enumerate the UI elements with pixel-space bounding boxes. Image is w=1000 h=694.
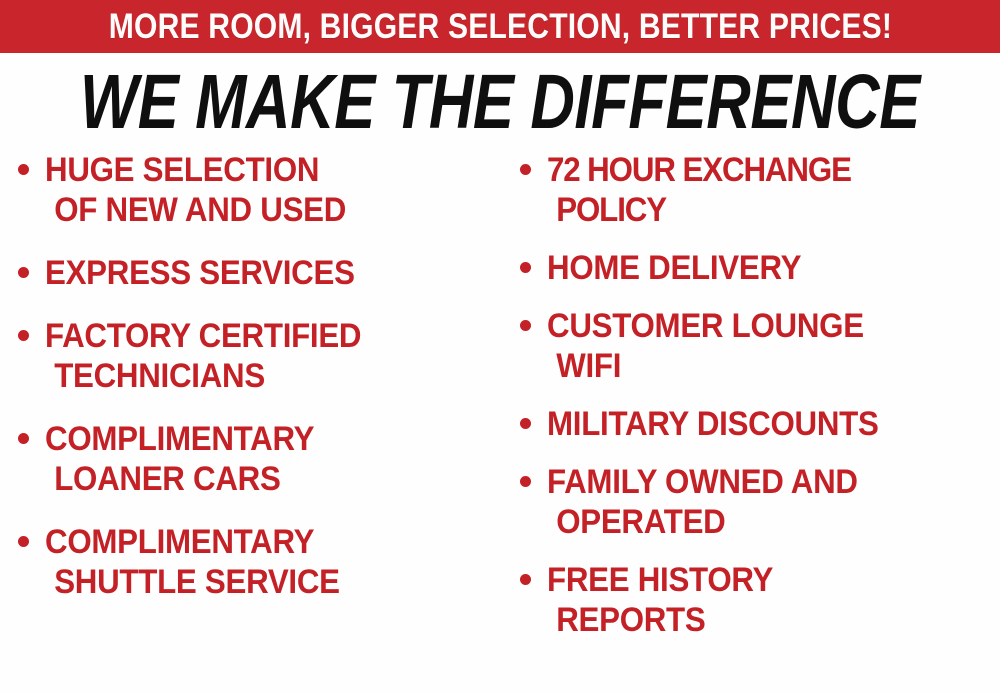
bullet-dot-icon xyxy=(520,418,531,429)
list-item-label: FACTORY CERTIFIED TECHNICIANS xyxy=(45,316,453,396)
benefits-columns: HUGE SELECTION OF NEW AND USED EXPRESS S… xyxy=(0,150,1000,694)
list-item-line1: FREE HISTORY xyxy=(547,561,773,599)
list-item-label: HOME DELIVERY xyxy=(547,248,964,288)
list-item: FREE HISTORY REPORTS xyxy=(520,560,1000,640)
list-item-label: MILITARY DISCOUNTS xyxy=(547,404,964,444)
list-item-line1: COMPLIMENTARY xyxy=(45,523,314,561)
bullet-dot-icon xyxy=(18,267,29,278)
list-item-line2: LOANER CARS xyxy=(45,459,453,499)
list-item-line1: CUSTOMER LOUNGE xyxy=(547,307,864,345)
list-item: HUGE SELECTION OF NEW AND USED xyxy=(18,150,488,230)
page-title: WE MAKE THE DIFFERENCE xyxy=(80,63,920,141)
list-item: 72 HOUR EXCHANGE POLICY xyxy=(520,150,1000,230)
list-item-line2: OPERATED xyxy=(547,502,964,542)
list-item: COMPLIMENTARY LOANER CARS xyxy=(18,419,488,499)
bullet-dot-icon xyxy=(18,330,29,341)
list-item-line1: FAMILY OWNED AND xyxy=(547,463,858,501)
list-item-line1: HOME DELIVERY xyxy=(547,249,801,287)
list-item-line2: REPORTS xyxy=(547,600,964,640)
bullet-dot-icon xyxy=(18,433,29,444)
list-item: COMPLIMENTARY SHUTTLE SERVICE xyxy=(18,522,488,602)
banner-headline: MORE ROOM, BIGGER SELECTION, BETTER PRIC… xyxy=(108,9,891,44)
list-item-label: COMPLIMENTARY LOANER CARS xyxy=(45,419,453,499)
list-item-line2: OF NEW AND USED xyxy=(45,190,453,230)
list-item-line1: COMPLIMENTARY xyxy=(45,420,314,458)
bullet-dot-icon xyxy=(18,164,29,175)
list-item-line1: 72 HOUR EXCHANGE xyxy=(547,151,851,189)
list-item-label: 72 HOUR EXCHANGE POLICY xyxy=(547,150,964,230)
list-item-line2: POLICY xyxy=(547,190,964,230)
bullet-dot-icon xyxy=(520,476,531,487)
bullet-dot-icon xyxy=(520,164,531,175)
list-item-label: EXPRESS SERVICES xyxy=(45,253,453,293)
bullet-dot-icon xyxy=(18,536,29,547)
list-item-line1: FACTORY CERTIFIED xyxy=(45,317,361,355)
list-item: FACTORY CERTIFIED TECHNICIANS xyxy=(18,316,488,396)
list-item-label: COMPLIMENTARY SHUTTLE SERVICE xyxy=(45,522,453,602)
list-item: CUSTOMER LOUNGE WIFI xyxy=(520,306,1000,386)
list-item-line1: MILITARY DISCOUNTS xyxy=(547,405,879,443)
list-item: EXPRESS SERVICES xyxy=(18,253,488,293)
list-item-line2: TECHNICIANS xyxy=(45,356,453,396)
list-item-line1: EXPRESS SERVICES xyxy=(45,254,355,292)
bullet-dot-icon xyxy=(520,262,531,273)
list-item: HOME DELIVERY xyxy=(520,248,1000,288)
bullet-dot-icon xyxy=(520,574,531,585)
list-item: MILITARY DISCOUNTS xyxy=(520,404,1000,444)
list-item: FAMILY OWNED AND OPERATED xyxy=(520,462,1000,542)
promotional-poster: MORE ROOM, BIGGER SELECTION, BETTER PRIC… xyxy=(0,0,1000,694)
list-item-label: HUGE SELECTION OF NEW AND USED xyxy=(45,150,453,230)
benefits-column-left: HUGE SELECTION OF NEW AND USED EXPRESS S… xyxy=(18,150,488,625)
list-item-label: FREE HISTORY REPORTS xyxy=(547,560,964,640)
benefits-column-right: 72 HOUR EXCHANGE POLICY HOME DELIVERY CU… xyxy=(520,150,1000,658)
top-banner: MORE ROOM, BIGGER SELECTION, BETTER PRIC… xyxy=(0,0,1000,53)
list-item-line2: WIFI xyxy=(547,346,964,386)
list-item-label: CUSTOMER LOUNGE WIFI xyxy=(547,306,964,386)
list-item-line1: HUGE SELECTION xyxy=(45,151,319,189)
headline-container: WE MAKE THE DIFFERENCE xyxy=(0,62,1000,142)
list-item-label: FAMILY OWNED AND OPERATED xyxy=(547,462,964,542)
list-item-line2: SHUTTLE SERVICE xyxy=(45,562,453,602)
bullet-dot-icon xyxy=(520,320,531,331)
